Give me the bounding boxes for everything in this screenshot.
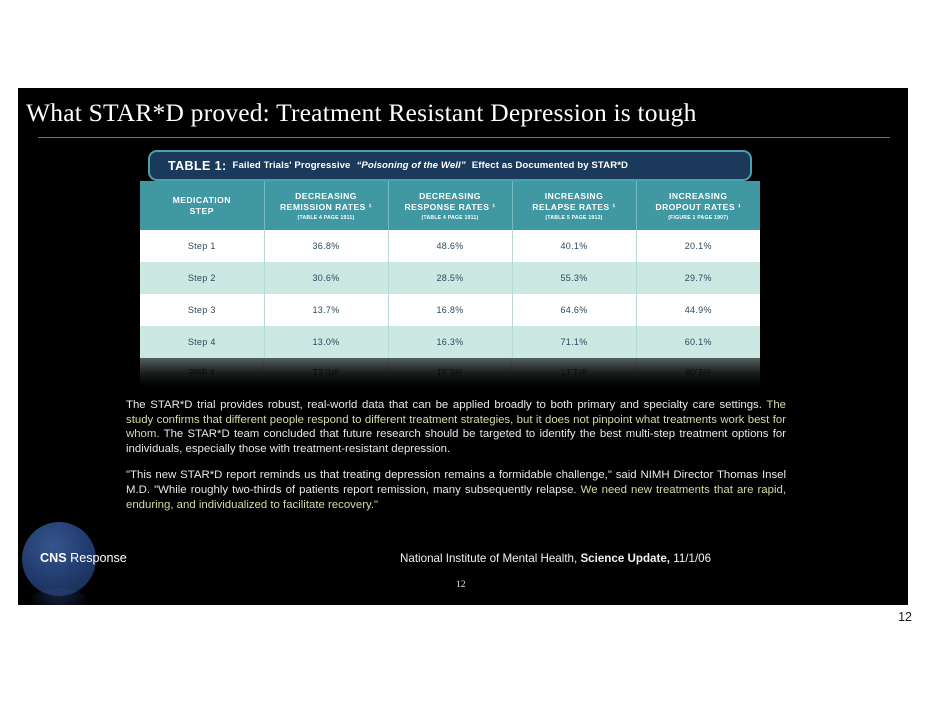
- table-banner-text-after: Effect as Documented by STAR*D: [472, 160, 628, 171]
- title-divider: [38, 137, 890, 138]
- cns-response-logo-reflection: [28, 588, 90, 605]
- column-header-line2: RELAPSE RATES ¹: [515, 202, 634, 213]
- column-header-line2: DROPOUT RATES ¹: [639, 202, 759, 213]
- table-row: Step 1 36.8% 48.6% 40.1% 20.1%: [140, 230, 760, 262]
- column-header-line2: STEP: [142, 206, 262, 217]
- table-header-row: MEDICATION STEP DECREASING REMISSION RAT…: [140, 181, 760, 230]
- cell-remission: 13.0%: [264, 326, 388, 358]
- table-row: Step 2 30.6% 28.5% 55.3% 29.7%: [140, 262, 760, 294]
- reflection-cell-dropout: 60.1%: [636, 358, 760, 386]
- column-header-medication-step: MEDICATION STEP: [140, 181, 264, 230]
- citation-before: National Institute of Mental Health,: [400, 552, 580, 565]
- column-header-line2: REMISSION RATES ¹: [267, 202, 386, 213]
- paragraph-one: The STAR*D trial provides robust, real-w…: [126, 398, 786, 456]
- table-reflection: Step 4 13.0% 16.3% 71.1% 60.1%: [140, 358, 760, 386]
- page-title: What STAR*D proved: Treatment Resistant …: [26, 98, 886, 128]
- table-block: TABLE 1: Failed Trials' Progressive “Poi…: [140, 150, 760, 386]
- cell-step: Step 2: [140, 262, 264, 294]
- table-banner-quote: “Poisoning of the Well”: [356, 160, 465, 171]
- document-page-number: 12: [898, 610, 912, 624]
- paragraph-one-part-a: The STAR*D trial provides robust, real-w…: [126, 399, 766, 411]
- citation-bold: Science Update,: [580, 552, 670, 565]
- results-table: MEDICATION STEP DECREASING REMISSION RAT…: [140, 181, 760, 358]
- cell-dropout: 60.1%: [636, 326, 760, 358]
- cell-remission: 13.7%: [264, 294, 388, 326]
- column-header-remission-rates: DECREASING REMISSION RATES ¹ (TABLE 4 PA…: [264, 181, 388, 230]
- slide-page-number: 12: [456, 579, 466, 590]
- cell-relapse: 71.1%: [512, 326, 636, 358]
- table-row: Step 4 13.0% 16.3% 71.1% 60.1%: [140, 326, 760, 358]
- cell-step: Step 1: [140, 230, 264, 262]
- column-header-line1: INCREASING: [639, 191, 759, 202]
- cell-relapse: 64.6%: [512, 294, 636, 326]
- cell-dropout: 20.1%: [636, 230, 760, 262]
- reflection-cell-remission: 13.0%: [264, 358, 388, 386]
- slide-canvas: What STAR*D proved: Treatment Resistant …: [18, 88, 908, 605]
- table-banner-text-before: Failed Trials' Progressive: [233, 160, 351, 171]
- logo-text-rest: Response: [67, 551, 127, 565]
- column-header-line1: DECREASING: [391, 191, 510, 202]
- cns-response-logo-text: CNS Response: [40, 551, 127, 565]
- cell-response: 16.3%: [388, 326, 512, 358]
- cell-step: Step 3: [140, 294, 264, 326]
- reflection-cell-response: 16.3%: [388, 358, 512, 386]
- paragraph-one-part-b: The STAR*D team concluded that future re…: [126, 428, 786, 455]
- cell-step: Step 4: [140, 326, 264, 358]
- column-header-source: (FIGURE 1 PAGE 1907): [639, 215, 759, 221]
- logo-text-bold: CNS: [40, 551, 67, 565]
- cell-remission: 36.8%: [264, 230, 388, 262]
- paragraph-two: "This new STAR*D report reminds us that …: [126, 468, 786, 512]
- column-header-dropout-rates: INCREASING DROPOUT RATES ¹ (FIGURE 1 PAG…: [636, 181, 760, 230]
- column-header-relapse-rates: INCREASING RELAPSE RATES ¹ (TABLE 5 PAGE…: [512, 181, 636, 230]
- table-banner-label: TABLE 1:: [168, 159, 227, 173]
- citation-after: 11/1/06: [670, 552, 711, 565]
- cell-response: 28.5%: [388, 262, 512, 294]
- reflection-cell-relapse: 71.1%: [512, 358, 636, 386]
- column-header-source: (TABLE 4 PAGE 1911): [267, 215, 386, 221]
- table-banner: TABLE 1: Failed Trials' Progressive “Poi…: [148, 150, 752, 181]
- cell-response: 16.8%: [388, 294, 512, 326]
- column-header-line1: MEDICATION: [142, 195, 262, 206]
- cell-dropout: 29.7%: [636, 262, 760, 294]
- column-header-source: (TABLE 5 PAGE 1912): [515, 215, 634, 221]
- cell-relapse: 40.1%: [512, 230, 636, 262]
- column-header-response-rates: DECREASING RESPONSE RATES ¹ (TABLE 4 PAG…: [388, 181, 512, 230]
- cell-dropout: 44.9%: [636, 294, 760, 326]
- source-citation: National Institute of Mental Health, Sci…: [400, 552, 711, 565]
- body-copy: The STAR*D trial provides robust, real-w…: [126, 398, 786, 512]
- reflection-cell-step: Step 4: [140, 358, 264, 386]
- table-row: Step 3 13.7% 16.8% 64.6% 44.9%: [140, 294, 760, 326]
- column-header-line1: INCREASING: [515, 191, 634, 202]
- cell-relapse: 55.3%: [512, 262, 636, 294]
- cell-remission: 30.6%: [264, 262, 388, 294]
- cell-response: 48.6%: [388, 230, 512, 262]
- column-header-source: (TABLE 4 PAGE 1911): [391, 215, 510, 221]
- column-header-line2: RESPONSE RATES ¹: [391, 202, 510, 213]
- column-header-line1: DECREASING: [267, 191, 386, 202]
